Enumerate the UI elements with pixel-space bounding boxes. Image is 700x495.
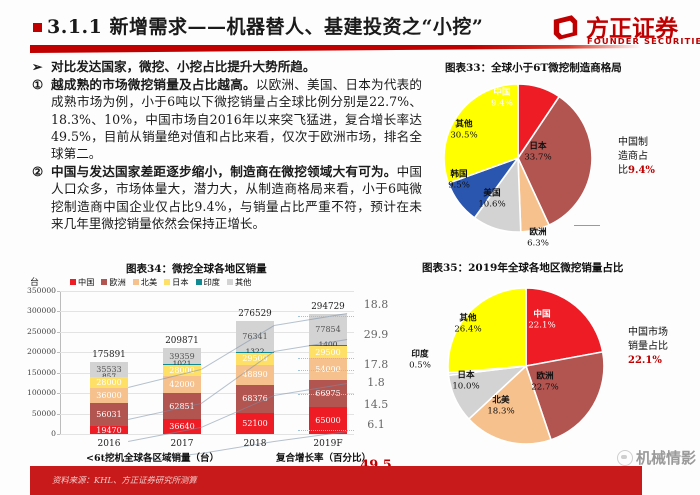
chart-34-segment-中国-2017: 36640 bbox=[163, 419, 201, 434]
founder-logo-mark-icon bbox=[552, 13, 579, 41]
chart-35-annotation: 中国市场 销量占比 22.1% bbox=[628, 326, 698, 368]
pie-label-韩国: 韩国9.5% bbox=[448, 170, 470, 191]
chart-34-y-tick bbox=[57, 311, 60, 312]
chart-34-legend-item-其他: 其他 bbox=[227, 276, 251, 288]
chart-35-annotation-l2: 销量占比 bbox=[628, 340, 698, 354]
chart-34-y-tick bbox=[57, 373, 60, 374]
chart-34-legend-item-欧洲: 欧洲 bbox=[101, 276, 125, 288]
chart-34-segment-日本-2019F: 29500 bbox=[309, 346, 347, 358]
chart-34-cagr-title: 复合增长率（百分比） bbox=[276, 450, 371, 464]
chart-35-caption: 图表35：2019年全球各地区微挖销量占比 bbox=[422, 260, 623, 275]
legend-swatch-icon bbox=[164, 279, 170, 285]
chart-34-y-tick-label: 0 bbox=[8, 429, 56, 438]
chart-34-y-tick bbox=[57, 332, 60, 333]
chart-35-annotation-l3: 22.1% bbox=[628, 354, 698, 368]
chart-34-cagr-1: 29.9 bbox=[356, 328, 396, 341]
chart-33-annotation-l1: 中国制 bbox=[618, 136, 692, 150]
chart-34-x-tick-2019F: 2019F bbox=[303, 439, 353, 449]
chart-34-segment-北美-2016: 36000 bbox=[90, 388, 128, 403]
pie-label-北美: 北美18.3% bbox=[487, 396, 514, 417]
chart-34-total-2018: 276529 bbox=[225, 309, 285, 319]
pie-label-日本: 日本10.0% bbox=[452, 371, 479, 392]
chart-33-annotation-l3: 比9.4% bbox=[618, 164, 692, 178]
body-text-block: ➢ 对比发达国家，微挖、小挖占比提升大势所趋。 ① 越成熟的市场微挖销量及占比越… bbox=[32, 58, 422, 233]
chart-33-leader-line bbox=[574, 225, 600, 226]
chart-34-total-2017: 209871 bbox=[152, 336, 212, 346]
chart-34-leader-line bbox=[298, 316, 354, 317]
legend-swatch-icon bbox=[196, 279, 202, 285]
legend-swatch-icon bbox=[70, 279, 76, 285]
legend-swatch-icon bbox=[227, 279, 233, 285]
chart-34-segment-中国-2016: 19470 bbox=[90, 426, 128, 434]
chart-34-y-tick-label: 100000 bbox=[8, 388, 56, 397]
chart-34-total-2019F: 294729 bbox=[298, 302, 358, 312]
chart-34-bar-2018: 76341132229500488906837652100 bbox=[236, 321, 274, 434]
legend-swatch-icon bbox=[133, 279, 139, 285]
watermark: 机械情影 bbox=[617, 447, 696, 468]
chart-34-legend-item-日本: 日本 bbox=[164, 276, 188, 288]
chart-34-leader-line bbox=[298, 358, 354, 359]
logo-text-en: FOUNDER SECURITIES bbox=[587, 36, 700, 46]
pie-label-其他: 其他30.5% bbox=[450, 120, 477, 141]
chart-34-leader-line bbox=[298, 430, 354, 431]
chart-34-y-tick-label: 250000 bbox=[8, 327, 56, 336]
chart-34-y-tick-label: 50000 bbox=[8, 409, 56, 418]
chart-34-gridline bbox=[60, 291, 354, 292]
chart-34-legend-item-中国: 中国 bbox=[70, 276, 94, 288]
text-item-1-bold: 越成熟的市场微挖销量及占比越高。 bbox=[51, 77, 256, 92]
chart-35-slice-labels: 中国22.1%欧洲22.7%北美18.3%日本10.0%印度0.5%其他26.4… bbox=[446, 286, 606, 446]
chart-34-y-tick-label: 300000 bbox=[8, 306, 56, 315]
chart-34-total-2016: 175891 bbox=[79, 350, 139, 360]
pie-label-欧洲: 欧洲6.3% bbox=[527, 228, 549, 249]
chart-34-segment-北美-2017: 42000 bbox=[163, 376, 201, 393]
text-item-1: 越成熟的市场微挖销量及占比越高。以欧洲、美国、日本为代表的成熟市场为例，小于6吨… bbox=[51, 76, 422, 162]
chart-34-segment-欧洲-2016: 56031 bbox=[90, 403, 128, 426]
watermark-logo-icon bbox=[617, 450, 633, 466]
chart-34-cagr-2: 17.8 bbox=[356, 358, 396, 371]
arrow-bullet-icon: ➢ bbox=[32, 58, 51, 75]
pie-label-印度: 印度0.5% bbox=[409, 350, 431, 371]
circled-one-icon: ① bbox=[32, 76, 51, 162]
source-note: 资料来源：KHL、方正证券研究所测算 bbox=[52, 474, 197, 486]
chart-33: 图表33：全球小于6T微挖制造商格局 中国9.4%日本33.7%欧洲6.3%美国… bbox=[420, 58, 698, 250]
chart-33-caption: 图表33：全球小于6T微挖制造商格局 bbox=[445, 60, 622, 75]
chart-34-legend-item-北美: 北美 bbox=[133, 276, 157, 288]
chart-35: 图表35：2019年全球各地区微挖销量占比 中国22.1%欧洲22.7%北美18… bbox=[416, 258, 700, 463]
text-lead-row: ➢ 对比发达国家，微挖、小挖占比提升大势所趋。 bbox=[32, 58, 422, 75]
company-logo: 方正证券 FOUNDER SECURITIES bbox=[546, 9, 694, 49]
chart-34-y-axis bbox=[60, 291, 61, 434]
pie-label-美国: 美国10.6% bbox=[478, 189, 505, 210]
watermark-text: 机械情影 bbox=[636, 447, 696, 468]
pie-label-日本: 日本33.7% bbox=[524, 142, 551, 163]
text-item-2-row: ② 中国与发达国家差距逐步缩小，制造商在微挖领域大有可为。中国人口众多，市场体量… bbox=[32, 163, 422, 232]
pie-label-其他: 其他26.4% bbox=[454, 314, 481, 335]
text-item-2: 中国与发达国家差距逐步缩小，制造商在微挖领域大有可为。中国人口众多，市场体量大，… bbox=[51, 163, 422, 232]
pie-label-中国: 中国9.4% bbox=[491, 88, 513, 109]
chart-34-y-tick bbox=[57, 434, 60, 435]
slide-header: 3.1.1 新增需求——机器替人、基建投资之“小挖” 方正证券 FOUNDER … bbox=[0, 0, 700, 54]
chart-33-annotation-l2: 造商占 bbox=[618, 150, 692, 164]
chart-34-cagr-4: 14.5 bbox=[356, 398, 396, 411]
text-lead: 对比发达国家，微挖、小挖占比提升大势所趋。 bbox=[51, 58, 422, 75]
chart-33-annotation-prefix: 比 bbox=[618, 165, 628, 176]
chart-35-annotation-l1: 中国市场 bbox=[628, 326, 698, 340]
chart-34-cagr-5: 6.1 bbox=[356, 418, 396, 431]
chart-34-y-tick-label: 200000 bbox=[8, 347, 56, 356]
chart-34-plot-area: 3553385728000360005603119470393591021280… bbox=[60, 291, 354, 434]
chart-34-bar-2017: 39359102128000420006285136640 bbox=[163, 348, 201, 434]
chart-34-y-tick-label: 350000 bbox=[8, 286, 56, 295]
chart-34: 图表34：微挖全球各地区销量 台 中国欧洲北美日本印度其他 3553385728… bbox=[8, 258, 416, 473]
chart-34-x-axis-title: <6t挖机全球各区域销量（台） bbox=[86, 450, 219, 464]
chart-34-legend-item-印度: 印度 bbox=[196, 276, 220, 288]
circled-two-icon: ② bbox=[32, 163, 51, 232]
text-item-2-bold: 中国与发达国家差距逐步缩小，制造商在微挖领域大有可为。 bbox=[51, 164, 397, 179]
chart-34-legend: 中国欧洲北美日本印度其他 bbox=[70, 276, 251, 288]
chart-34-y-tick bbox=[57, 352, 60, 353]
chart-34-cagr-3: 1.8 bbox=[356, 376, 396, 389]
slide-footer: 资料来源：KHL、方正证券研究所测算 bbox=[30, 466, 642, 495]
chart-34-x-tick-2016: 2016 bbox=[84, 439, 134, 449]
chart-34-bar-2019F: 77854140029500540006697565000 bbox=[309, 314, 347, 434]
chart-34-x-tick-2017: 2017 bbox=[157, 439, 207, 449]
chart-33-annotation-value: 9.4% bbox=[628, 165, 655, 176]
chart-34-caption: 图表34：微挖全球各地区销量 bbox=[126, 261, 267, 276]
chart-33-annotation: 中国制 造商占 比9.4% bbox=[618, 136, 692, 178]
chart-34-leader-line bbox=[298, 370, 354, 371]
square-bullet-icon bbox=[33, 23, 42, 32]
pie-label-中国: 中国22.1% bbox=[528, 310, 555, 331]
legend-swatch-icon bbox=[101, 279, 107, 285]
chart-34-segment-日本-2016: 28000 bbox=[90, 377, 128, 388]
chart-34-bar-2016: 3553385728000360005603119470 bbox=[90, 362, 128, 434]
pie-label-欧洲: 欧洲22.7% bbox=[531, 372, 558, 393]
chart-34-x-tick-2018: 2018 bbox=[230, 439, 280, 449]
chart-34-leader-line bbox=[298, 394, 354, 395]
chart-34-y-tick-label: 150000 bbox=[8, 368, 56, 377]
chart-34-cagr-0: 18.8 bbox=[356, 298, 396, 311]
chart-34-y-tick bbox=[57, 291, 60, 292]
chart-33-slice-labels: 中国9.4%日本33.7%欧洲6.3%美国10.6%韩国9.5%其他30.5% bbox=[442, 82, 594, 234]
text-item-1-row: ① 越成熟的市场微挖销量及占比越高。以欧洲、美国、日本为代表的成熟市场为例，小于… bbox=[32, 76, 422, 162]
slide-root: 3.1.1 新增需求——机器替人、基建投资之“小挖” 方正证券 FOUNDER … bbox=[0, 0, 700, 495]
chart-34-y-tick bbox=[57, 393, 60, 394]
chart-34-y-tick bbox=[57, 414, 60, 415]
chart-34-segment-中国-2018: 52100 bbox=[236, 413, 274, 434]
page-title: 3.1.1 新增需求——机器替人、基建投资之“小挖” bbox=[47, 12, 483, 39]
